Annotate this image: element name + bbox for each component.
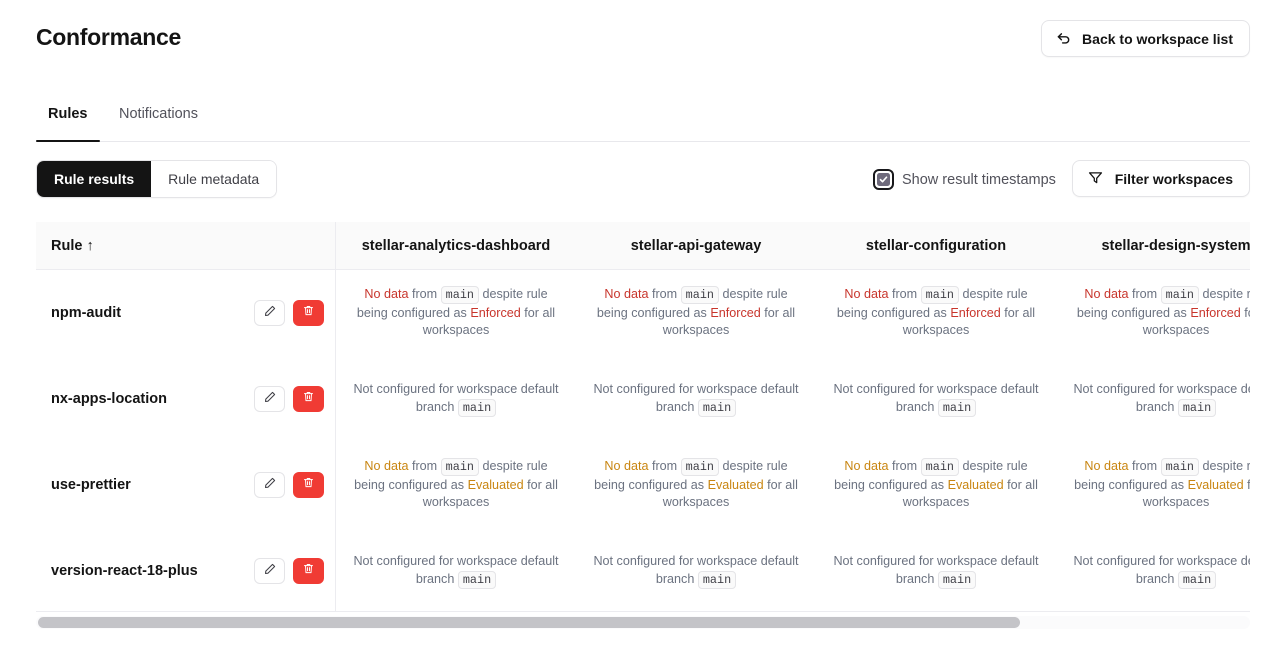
column-header-workspace-0[interactable]: stellar-analytics-dashboard — [336, 222, 576, 269]
pencil-icon — [263, 390, 277, 409]
delete-rule-button[interactable] — [293, 300, 324, 326]
table-row: use-prettierNo data from main despite ru… — [36, 442, 1250, 528]
result-text-1: Not configured for workspace default bra… — [1073, 382, 1250, 414]
result-cell: No data from main despite rule being con… — [576, 442, 816, 528]
rules-table-region: Rule ↑ stellar-analytics-dashboard stell… — [36, 222, 1250, 612]
result-cell-text: Not configured for workspace default bra… — [348, 553, 564, 589]
table-row: version-react-18-plusNot configured for … — [36, 528, 1250, 612]
pencil-icon — [263, 562, 277, 581]
result-cell: Not configured for workspace default bra… — [576, 528, 816, 612]
result-cell: No data from main despite rule being con… — [336, 270, 576, 356]
column-header-workspace-3-label: stellar-design-system — [1101, 238, 1250, 254]
rule-actions — [254, 386, 324, 412]
branch-chip: main — [681, 286, 719, 304]
result-cell-text: No data from main despite rule being con… — [828, 286, 1044, 340]
result-mode: Evaluated — [468, 478, 524, 492]
column-header-workspace-2[interactable]: stellar-configuration — [816, 222, 1056, 269]
delete-rule-button[interactable] — [293, 472, 324, 498]
page-title: Conformance — [36, 24, 181, 51]
result-mode: Enforced — [1190, 306, 1240, 320]
result-text-1: from — [888, 287, 920, 301]
rule-actions — [254, 558, 324, 584]
conformance-page: Conformance Back to workspace list Rules… — [0, 0, 1286, 667]
table-bottom-border — [36, 611, 1250, 612]
result-text-1: from — [408, 459, 440, 473]
result-mode: Evaluated — [1188, 478, 1244, 492]
back-button-label: Back to workspace list — [1082, 31, 1233, 47]
result-cell-text: No data from main despite rule being con… — [1068, 286, 1250, 340]
back-arrow-icon — [1055, 30, 1072, 47]
result-cell: No data from main despite rule being con… — [816, 442, 1056, 528]
trash-icon — [302, 304, 315, 322]
back-to-workspace-list-button[interactable]: Back to workspace list — [1041, 20, 1250, 57]
result-text-1: Not configured for workspace default bra… — [593, 554, 798, 586]
edit-rule-button[interactable] — [254, 558, 285, 584]
tab-notifications[interactable]: Notifications — [119, 104, 198, 142]
result-status: No data — [844, 459, 888, 473]
column-header-workspace-2-label: stellar-configuration — [866, 238, 1006, 254]
result-cell-text: No data from main despite rule being con… — [588, 286, 804, 340]
result-cell-text: No data from main despite rule being con… — [348, 286, 564, 340]
show-result-timestamps-toggle[interactable]: Show result timestamps — [873, 169, 1056, 190]
rule-cell: use-prettier — [36, 442, 336, 528]
result-cell: No data from main despite rule being con… — [1056, 442, 1250, 528]
branch-chip: main — [681, 458, 719, 476]
delete-rule-button[interactable] — [293, 558, 324, 584]
column-header-rule-label: Rule ↑ — [51, 238, 94, 254]
result-cell-text: No data from main despite rule being con… — [588, 458, 804, 512]
funnel-icon — [1087, 169, 1104, 189]
rule-name: npm-audit — [51, 305, 121, 321]
branch-chip: main — [698, 571, 736, 589]
result-cell: No data from main despite rule being con… — [336, 442, 576, 528]
view-mode-segmented-control: Rule results Rule metadata — [36, 160, 277, 198]
result-status: No data — [1084, 459, 1128, 473]
result-text-1: Not configured for workspace default bra… — [1073, 554, 1250, 586]
result-text-1: from — [1128, 287, 1160, 301]
branch-chip: main — [921, 458, 959, 476]
result-cell: Not configured for workspace default bra… — [1056, 356, 1250, 442]
result-mode: Evaluated — [948, 478, 1004, 492]
result-cell: Not configured for workspace default bra… — [336, 356, 576, 442]
rule-cell: nx-apps-location — [36, 356, 336, 442]
result-cell: Not configured for workspace default bra… — [816, 356, 1056, 442]
branch-chip: main — [921, 286, 959, 304]
result-text-1: Not configured for workspace default bra… — [353, 554, 558, 586]
result-mode: Enforced — [710, 306, 760, 320]
tab-rules-label: Rules — [48, 106, 88, 122]
trash-icon — [302, 476, 315, 494]
result-cell: No data from main despite rule being con… — [816, 270, 1056, 356]
result-cell: Not configured for workspace default bra… — [816, 528, 1056, 612]
result-status: No data — [364, 459, 408, 473]
column-header-workspace-0-label: stellar-analytics-dashboard — [362, 238, 551, 254]
segment-rule-results-label: Rule results — [54, 171, 134, 187]
result-text-1: from — [408, 287, 440, 301]
result-cell-text: Not configured for workspace default bra… — [588, 381, 804, 417]
result-cell: No data from main despite rule being con… — [576, 270, 816, 356]
result-cell-text: Not configured for workspace default bra… — [1068, 553, 1250, 589]
rules-table: Rule ↑ stellar-analytics-dashboard stell… — [36, 222, 1250, 612]
result-mode: Evaluated — [708, 478, 764, 492]
result-cell-text: Not configured for workspace default bra… — [828, 553, 1044, 589]
result-cell-text: Not configured for workspace default bra… — [828, 381, 1044, 417]
result-cell-text: No data from main despite rule being con… — [828, 458, 1044, 512]
result-text-1: from — [888, 459, 920, 473]
result-status: No data — [844, 287, 888, 301]
delete-rule-button[interactable] — [293, 386, 324, 412]
table-header-row: Rule ↑ stellar-analytics-dashboard stell… — [36, 222, 1250, 270]
rule-name: nx-apps-location — [51, 391, 167, 407]
branch-chip: main — [1178, 571, 1216, 589]
segment-rule-metadata[interactable]: Rule metadata — [151, 161, 276, 197]
column-header-workspace-1-label: stellar-api-gateway — [631, 238, 762, 254]
rule-actions — [254, 300, 324, 326]
pencil-icon — [263, 476, 277, 495]
result-text-1: from — [1128, 459, 1160, 473]
edit-rule-button[interactable] — [254, 386, 285, 412]
rule-cell: version-react-18-plus — [36, 528, 336, 612]
segment-rule-results[interactable]: Rule results — [37, 161, 151, 197]
table-row: nx-apps-locationNot configured for works… — [36, 356, 1250, 442]
branch-chip: main — [1161, 458, 1199, 476]
branch-chip: main — [458, 571, 496, 589]
column-header-rule[interactable]: Rule ↑ — [36, 222, 336, 269]
result-cell-text: Not configured for workspace default bra… — [348, 381, 564, 417]
sticky-column-divider — [335, 222, 336, 612]
show-result-timestamps-checkbox[interactable] — [873, 169, 894, 190]
filter-workspaces-label: Filter workspaces — [1115, 171, 1233, 187]
result-cell: Not configured for workspace default bra… — [336, 528, 576, 612]
result-cell: No data from main despite rule being con… — [1056, 270, 1250, 356]
toolbar: Rule results Rule metadata Show result t… — [0, 160, 1286, 200]
edit-rule-button[interactable] — [254, 472, 285, 498]
result-status: No data — [1084, 287, 1128, 301]
column-header-workspace-1[interactable]: stellar-api-gateway — [576, 222, 816, 269]
tab-rules[interactable]: Rules — [48, 104, 88, 142]
branch-chip: main — [1178, 399, 1216, 417]
checkmark-icon — [877, 173, 890, 186]
page-header: Conformance Back to workspace list — [0, 0, 1286, 78]
result-mode: Enforced — [470, 306, 520, 320]
column-header-workspace-3[interactable]: stellar-design-system — [1056, 222, 1250, 269]
table-body: npm-auditNo data from main despite rule … — [36, 270, 1250, 612]
branch-chip: main — [441, 286, 479, 304]
result-text-1: Not configured for workspace default bra… — [593, 382, 798, 414]
result-text-1: from — [648, 287, 680, 301]
trash-icon — [302, 390, 315, 408]
branch-chip: main — [938, 571, 976, 589]
branch-chip: main — [1161, 286, 1199, 304]
rule-cell: npm-audit — [36, 270, 336, 356]
result-status: No data — [364, 287, 408, 301]
horizontal-scrollbar-thumb[interactable] — [38, 617, 1020, 628]
edit-rule-button[interactable] — [254, 300, 285, 326]
segment-rule-metadata-label: Rule metadata — [168, 171, 259, 187]
result-cell: Not configured for workspace default bra… — [1056, 528, 1250, 612]
result-cell-text: No data from main despite rule being con… — [1068, 458, 1250, 512]
result-status: No data — [604, 287, 648, 301]
result-status: No data — [604, 459, 648, 473]
tab-notifications-label: Notifications — [119, 106, 198, 122]
pencil-icon — [263, 304, 277, 323]
result-cell-text: Not configured for workspace default bra… — [1068, 381, 1250, 417]
result-text-1: Not configured for workspace default bra… — [833, 554, 1038, 586]
result-mode: Enforced — [950, 306, 1000, 320]
result-cell-text: No data from main despite rule being con… — [348, 458, 564, 512]
branch-chip: main — [441, 458, 479, 476]
tabs-bar: Rules Notifications — [0, 104, 1286, 142]
result-cell-text: Not configured for workspace default bra… — [588, 553, 804, 589]
table-row: npm-auditNo data from main despite rule … — [36, 270, 1250, 356]
rule-name: use-prettier — [51, 477, 131, 493]
branch-chip: main — [938, 399, 976, 417]
branch-chip: main — [698, 399, 736, 417]
rule-name: version-react-18-plus — [51, 563, 198, 579]
result-cell: Not configured for workspace default bra… — [576, 356, 816, 442]
show-result-timestamps-label: Show result timestamps — [902, 172, 1056, 188]
result-text-1: from — [648, 459, 680, 473]
branch-chip: main — [458, 399, 496, 417]
result-text-1: Not configured for workspace default bra… — [353, 382, 558, 414]
trash-icon — [302, 562, 315, 580]
filter-workspaces-button[interactable]: Filter workspaces — [1072, 160, 1250, 197]
rule-actions — [254, 472, 324, 498]
tabs-underline — [36, 141, 1250, 142]
result-text-1: Not configured for workspace default bra… — [833, 382, 1038, 414]
